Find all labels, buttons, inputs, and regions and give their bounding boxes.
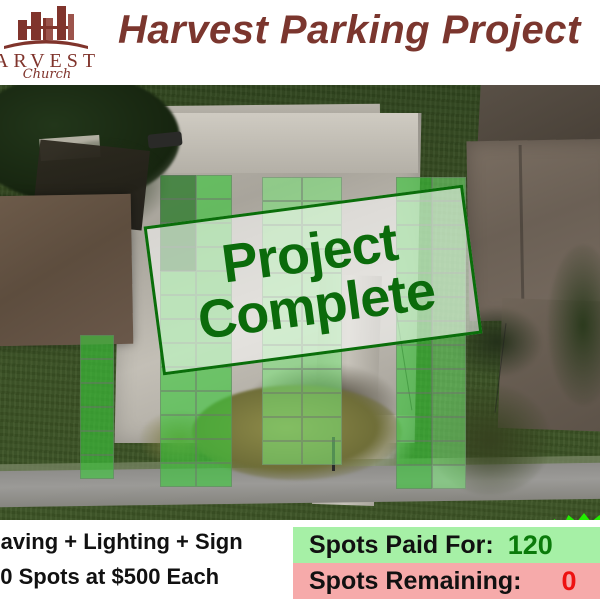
parking-spot [196, 175, 232, 199]
logo-subtext: Church [0, 67, 122, 82]
parking-spot [262, 393, 302, 417]
parking-spot [432, 345, 466, 369]
parking-spot [396, 465, 432, 489]
stat-row-spots-remaining: Spots Remaining: 0 [293, 563, 600, 599]
parking-spot [396, 345, 432, 369]
parking-spot [432, 465, 466, 489]
parking-spot [262, 177, 302, 201]
header-bar: ARVEST Church Harvest Parking Project [0, 0, 600, 85]
parking-spot [80, 359, 114, 383]
parking-spot [396, 417, 432, 441]
parking-spot [80, 407, 114, 431]
parking-spot-column [80, 335, 114, 479]
parking-spot [196, 439, 232, 463]
stat-value-spots-remaining: 0 [522, 566, 577, 597]
parking-spot [302, 417, 342, 441]
banner-stats-panel: Spots Paid For: 120 Spots Remaining: 0 [293, 520, 600, 600]
parking-spot [262, 417, 302, 441]
parking-spot [196, 463, 232, 487]
parking-spot [262, 441, 302, 465]
parking-spot [432, 441, 466, 465]
harvest-church-logo: ARVEST Church [0, 2, 122, 82]
stat-label-spots-paid: Spots Paid For: [293, 531, 494, 560]
parking-spot [160, 175, 196, 199]
parking-spot [432, 393, 466, 417]
stat-label-spots-remaining: Spots Remaining: [293, 567, 522, 596]
parking-spot [160, 391, 196, 415]
bottom-banner: Paving + Lighting + Sign 20 Spots at $50… [0, 520, 600, 600]
church-building-icon [2, 4, 90, 50]
parking-spot [262, 369, 302, 393]
parking-spot [160, 439, 196, 463]
parking-project-poster: ARVEST Church Harvest Parking Project [0, 0, 600, 600]
parking-spot [432, 369, 466, 393]
aerial-map: Project Complete +9 [0, 85, 600, 520]
parking-spot [196, 367, 232, 391]
banner-pricing-line: 20 Spots at $500 Each [0, 564, 219, 590]
parking-spot [302, 393, 342, 417]
page-title: Harvest Parking Project [118, 8, 581, 53]
parking-spot [196, 391, 232, 415]
stat-value-spots-paid: 120 [494, 530, 553, 561]
parking-spot [396, 441, 432, 465]
stat-row-spots-paid: Spots Paid For: 120 [293, 527, 600, 563]
parking-spot [302, 369, 342, 393]
parking-spot [396, 369, 432, 393]
parking-spot [432, 417, 466, 441]
parking-spot [196, 415, 232, 439]
banner-scope-line: Paving + Lighting + Sign [0, 529, 243, 555]
parking-spot [160, 463, 196, 487]
parking-spot [80, 455, 114, 479]
banner-left-panel: Paving + Lighting + Sign 20 Spots at $50… [0, 520, 293, 600]
parking-spot [80, 335, 114, 359]
parking-spot [80, 431, 114, 455]
parking-spot [160, 415, 196, 439]
parking-spot [396, 393, 432, 417]
building-roof-west [0, 194, 133, 346]
parking-spot [80, 383, 114, 407]
parking-spot [302, 441, 342, 465]
parking-spot [302, 177, 342, 201]
